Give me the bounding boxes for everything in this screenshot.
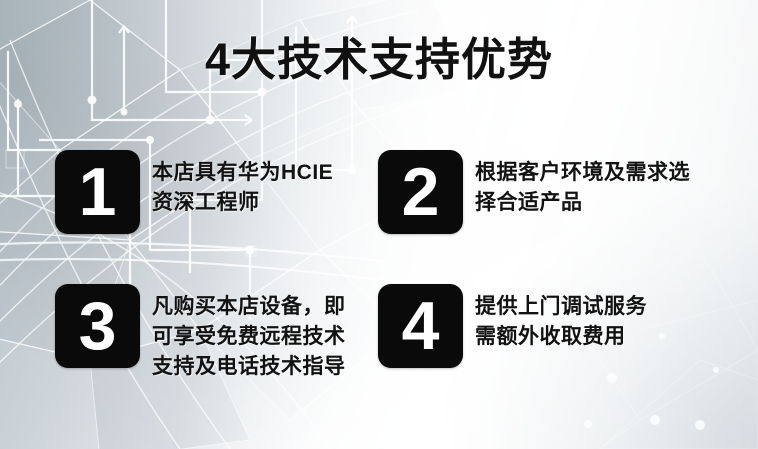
feature-number-badge-4: 4 — [378, 284, 463, 368]
feature-grid: 1 本店具有华为HCIE 资深工程师 2 根据客户环境及需求选 择合适产品 3 … — [55, 150, 715, 382]
feature-text-line: 需额外收取费用 — [475, 322, 647, 352]
promo-poster: 4大技术支持优势 1 本店具有华为HCIE 资深工程师 2 根据客户环境及需求选… — [0, 0, 758, 449]
page-title: 4大技术支持优势 — [0, 36, 758, 83]
feature-row-bottom: 3 凡购买本店设备，即 可享受免费远程技术 支持及电话技术指导 4 提供上门调试… — [55, 284, 715, 382]
feature-text-2: 根据客户环境及需求选 择合适产品 — [475, 150, 690, 218]
feature-text-line: 提供上门调试服务 — [475, 292, 647, 322]
feature-item-1: 1 本店具有华为HCIE 资深工程师 — [55, 150, 378, 234]
feature-text-line: 根据客户环境及需求选 — [475, 158, 690, 188]
feature-row-top: 1 本店具有华为HCIE 资深工程师 2 根据客户环境及需求选 择合适产品 — [55, 150, 715, 234]
feature-text-line: 本店具有华为HCIE — [152, 158, 333, 188]
feature-item-2: 2 根据客户环境及需求选 择合适产品 — [378, 150, 698, 234]
feature-text-line: 支持及电话技术指导 — [152, 352, 346, 382]
feature-text-4: 提供上门调试服务 需额外收取费用 — [475, 284, 647, 352]
feature-item-3: 3 凡购买本店设备，即 可享受免费远程技术 支持及电话技术指导 — [55, 284, 378, 382]
feature-text-line: 可享受免费远程技术 — [152, 322, 346, 352]
feature-text-line: 资深工程师 — [152, 188, 333, 218]
feature-text-1: 本店具有华为HCIE 资深工程师 — [152, 150, 333, 218]
feature-text-3: 凡购买本店设备，即 可享受免费远程技术 支持及电话技术指导 — [152, 284, 346, 382]
feature-number-badge-3: 3 — [55, 284, 140, 368]
feature-text-line: 凡购买本店设备，即 — [152, 292, 346, 322]
feature-number-badge-1: 1 — [55, 150, 140, 234]
feature-item-4: 4 提供上门调试服务 需额外收取费用 — [378, 284, 698, 368]
feature-text-line: 择合适产品 — [475, 188, 690, 218]
feature-number-badge-2: 2 — [378, 150, 463, 234]
